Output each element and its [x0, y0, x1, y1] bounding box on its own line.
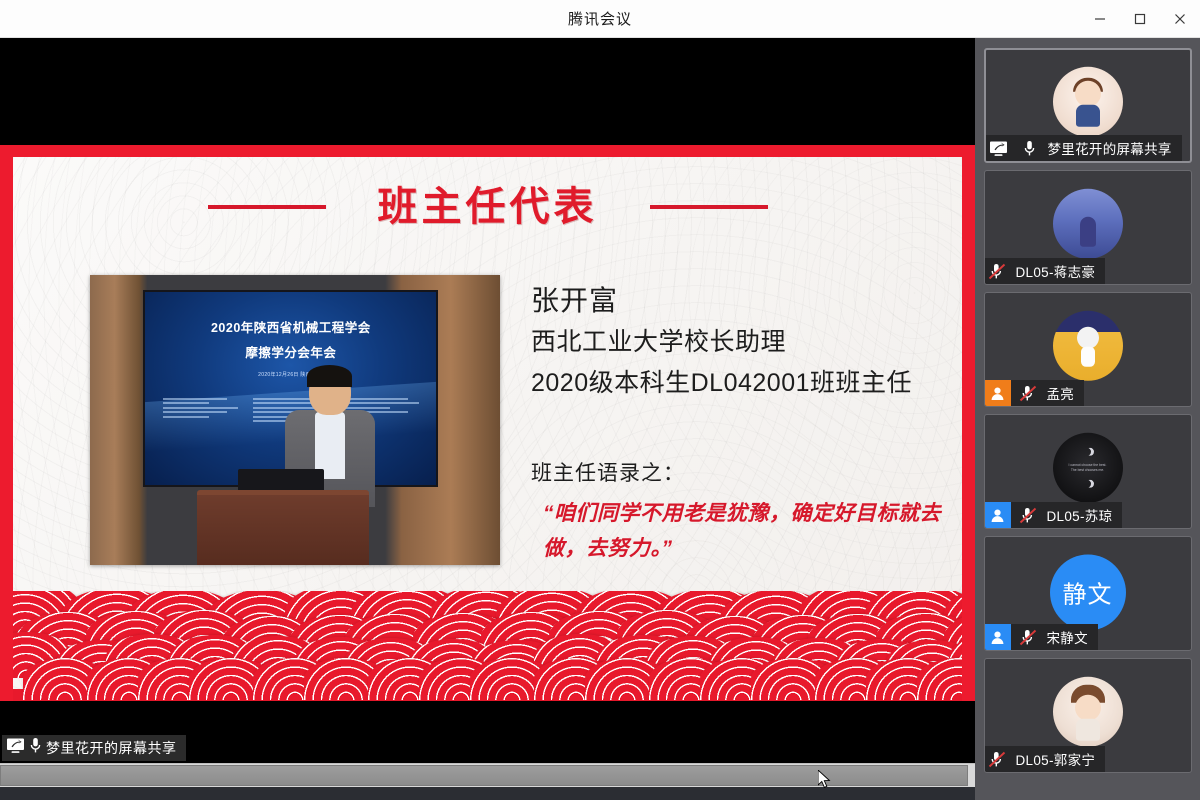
quote-label: 班主任语录之：: [531, 457, 961, 487]
speaker-name: 张开富: [531, 279, 951, 322]
avatar: [1053, 188, 1123, 258]
participant-tile[interactable]: I cannot choose the best.The best choose…: [984, 414, 1192, 529]
speaker-title-line-1: 西北工业大学校长助理: [531, 322, 951, 363]
window-controls: [1080, 0, 1200, 38]
participant-namebar: 宋静文: [985, 624, 1098, 650]
shared-screen-stage[interactable]: 班主任代表 2020年陕西省机械工程学会 摩擦学分会年会 2020年12月26日…: [0, 38, 975, 763]
slide-title: 班主任代表: [378, 187, 598, 227]
participant-tile[interactable]: DL05-郭家宁: [984, 658, 1192, 773]
speaker-photo: 2020年陕西省机械工程学会 摩擦学分会年会 2020年12月26日 陕西·西安: [90, 275, 500, 565]
participant-namebar: DL05-苏琼: [985, 502, 1123, 528]
avatar: I cannot choose the best.The best choose…: [1053, 432, 1123, 502]
participant-tile[interactable]: 孟亮: [984, 292, 1192, 407]
shared-screen-content: 班主任代表 2020年陕西省机械工程学会 摩擦学分会年会 2020年12月26日…: [0, 38, 975, 763]
slide-face: 班主任代表 2020年陕西省机械工程学会 摩擦学分会年会 2020年12月26日…: [13, 157, 962, 701]
participant-tile[interactable]: 静文 宋静文: [984, 536, 1192, 651]
photo-screen-line-2: 摩擦学分会年会: [169, 342, 414, 361]
user-badge-icon: [985, 624, 1011, 650]
cloud-pattern-decoration: [13, 591, 962, 701]
participant-namebar: DL05-蒋志豪: [985, 258, 1106, 284]
user-badge-icon: [985, 502, 1011, 528]
minimize-button[interactable]: [1080, 0, 1120, 38]
participant-tile[interactable]: 梦里花开的屏幕共享: [984, 48, 1192, 163]
microphone-muted-icon: [1016, 380, 1042, 406]
avatar: [1053, 676, 1123, 746]
quote-line-2: 做，去努力。”: [531, 531, 961, 566]
screen-share-icon: [6, 737, 25, 759]
avatar: [1053, 66, 1123, 136]
tencent-meeting-window: 腾讯会议 班主任代表: [0, 0, 1200, 800]
maximize-button[interactable]: [1120, 0, 1160, 38]
participant-name: 孟亮: [1047, 383, 1075, 403]
quote-block: 班主任语录之： “咱们同学不用老是犹豫，确定好目标就去 做，去努力。”: [531, 457, 961, 567]
microphone-muted-icon: [1016, 624, 1042, 650]
screen-share-icon: [986, 135, 1012, 161]
microphone-icon: [29, 737, 42, 759]
participant-tile[interactable]: DL05-蒋志豪: [984, 170, 1192, 285]
microphone-muted-icon: [985, 746, 1011, 772]
slide-heading: 班主任代表: [13, 187, 962, 227]
participant-namebar: DL05-郭家宁: [985, 746, 1106, 772]
window-title: 腾讯会议: [568, 8, 632, 29]
close-button[interactable]: [1160, 0, 1200, 38]
participant-name: 梦里花开的屏幕共享: [1048, 138, 1172, 158]
participant-name: DL05-苏琼: [1047, 505, 1113, 525]
mouse-cursor: [818, 770, 832, 795]
participant-name: DL05-蒋志豪: [1016, 261, 1096, 281]
photo-screen-line-1: 2020年陕西省机械工程学会: [169, 317, 414, 336]
participant-panel[interactable]: 梦里花开的屏幕共享 DL05-蒋志豪: [975, 38, 1200, 800]
avatar: [1053, 310, 1123, 380]
rule-right-decoration: [650, 205, 768, 209]
presentation-slide: 班主任代表 2020年陕西省机械工程学会 摩擦学分会年会 2020年12月26日…: [0, 145, 975, 701]
microphone-icon: [1017, 135, 1043, 161]
stage-share-label-text: 梦里花开的屏幕共享: [46, 738, 177, 758]
participant-namebar: 梦里花开的屏幕共享: [986, 135, 1182, 161]
avatar: 静文: [1050, 554, 1126, 630]
stage-share-label: 梦里花开的屏幕共享: [2, 735, 186, 761]
speaker-info: 张开富 西北工业大学校长助理 2020级本科生DL042001班班主任: [531, 279, 951, 403]
microphone-muted-icon: [985, 258, 1011, 284]
titlebar: 腾讯会议: [0, 0, 1200, 38]
avatar-caption: I cannot choose the best.The best choose…: [1053, 463, 1123, 473]
quote-line-1: “咱们同学不用老是犹豫，确定好目标就去: [531, 496, 961, 531]
photo-podium: [197, 490, 369, 565]
speaker-title-line-2: 2020级本科生DL042001班班主任: [531, 363, 951, 404]
microphone-muted-icon: [1016, 502, 1042, 528]
participant-name: 宋静文: [1047, 627, 1088, 647]
participant-name: DL05-郭家宁: [1016, 749, 1096, 769]
participant-namebar: 孟亮: [985, 380, 1085, 406]
rule-left-decoration: [208, 205, 326, 209]
host-badge-icon: [985, 380, 1011, 406]
